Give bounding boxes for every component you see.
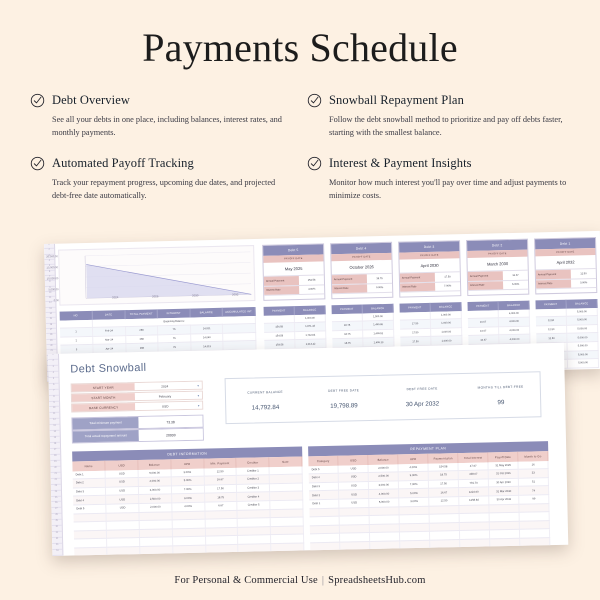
table-cell[interactable] (340, 541, 370, 550)
footer-left-text: For Personal & Commercial Use (174, 575, 317, 586)
balance-over-time-chart: 20,000.00 15,000.00 10,000.00 5,000.00 0… (58, 245, 255, 306)
chart-y-tick: 5,000.00 (48, 288, 60, 291)
feature-description: See all your debts in one place, includi… (52, 113, 290, 140)
kpi-summary-strip: CURRENT BALANCE 14,792.84 DEBT FREE DATE… (225, 371, 542, 424)
table-cell[interactable] (74, 547, 107, 556)
debt-card-row-label: Interest Rate (536, 279, 571, 288)
feature-heading: Interest & Payment Insights (307, 156, 574, 171)
feature-title: Debt Overview (52, 93, 130, 108)
kpi-value: 14,792.84 (252, 403, 280, 411)
page-title: Payments Schedule (0, 0, 600, 71)
debt-card-date: April 2030 (399, 259, 459, 274)
chevron-down-icon[interactable]: ▾ (195, 402, 202, 409)
table-cell[interactable] (310, 542, 340, 551)
kpi-label: DEBT FREE DATE (328, 388, 359, 393)
debt-card[interactable]: Debt 1 PAYOFF DATE April 2032 Annual Pay… (534, 237, 597, 294)
table-cell[interactable] (310, 551, 340, 556)
debt-card-row-value: 154.58 (299, 276, 324, 285)
table-cell[interactable] (370, 541, 400, 550)
field-label: START YEAR (72, 383, 135, 391)
table-cell[interactable] (370, 549, 400, 556)
chart-x-tick: 2024 (112, 293, 118, 299)
row-number-gutter: 1234567891011121314151617181920212223242… (48, 354, 63, 556)
table-cell[interactable] (400, 540, 430, 549)
table-cell[interactable] (173, 545, 206, 554)
feature-description: Follow the debt snowball method to prior… (329, 113, 567, 140)
chart-y-tick: 10,000.00 (47, 277, 60, 280)
debt-card-row: Interest Rate 9.00% (332, 283, 392, 294)
table-cell[interactable] (340, 550, 370, 556)
table-cell[interactable] (140, 546, 173, 555)
debt-card-row-value: 4.00% (299, 285, 324, 294)
debt-card-date: October 2026 (331, 260, 391, 275)
footer-separator: | (318, 575, 328, 586)
debt-card-row-value: 7.00% (435, 282, 460, 291)
field-label: BASE CURRENCY (72, 403, 135, 411)
feature-title: Snowball Repayment Plan (329, 93, 464, 108)
debt-card-row-label: Interest Rate (468, 281, 503, 290)
table-cell[interactable] (520, 546, 550, 555)
circled-check-icon (307, 156, 322, 171)
debt-card-row-label: Annual Payment (536, 270, 571, 279)
feature-title: Interest & Payment Insights (329, 156, 472, 171)
debt-card-row-value: 3.00% (571, 279, 596, 288)
total-label: Total actual repayment amount (73, 430, 139, 442)
kpi-value: 30 Apr 2032 (406, 400, 440, 408)
row-number: 34 (52, 550, 62, 556)
feature-description: Track your repayment progress, upcoming … (52, 176, 290, 203)
kpi-value: 99 (497, 399, 504, 406)
table-cell[interactable] (205, 544, 238, 553)
chart-x-tick: 2026 (152, 292, 158, 298)
total-label: Total minimum payment (72, 417, 138, 429)
table-cell[interactable] (460, 539, 490, 548)
feature-heading: Automated Payoff Tracking (30, 156, 297, 171)
table-cell[interactable] (271, 543, 304, 552)
table-cell[interactable] (238, 552, 271, 556)
feature-interest-payment-insights: Interest & Payment Insights Monitor how … (307, 156, 574, 203)
chart-x-tick: 2030 (192, 291, 198, 297)
table-cell[interactable]: 5,000.00 (568, 359, 599, 368)
feature-heading: Debt Overview (30, 93, 297, 108)
debt-card-row-value: 16.67 (503, 271, 528, 280)
table-cell[interactable] (173, 554, 206, 556)
kpi-current-balance: CURRENT BALANCE 14,792.84 (226, 377, 305, 423)
debt-card-row-value: 9.00% (367, 283, 392, 292)
feature-snowball-repayment-plan: Snowball Repayment Plan Follow the debt … (307, 93, 574, 140)
table-cell[interactable] (107, 546, 140, 555)
debt-card-row-label: Interest Rate (264, 286, 299, 295)
chart-x-tick: 2032 (232, 290, 238, 296)
debt-card-row-value: 12.50 (571, 269, 596, 278)
feature-heading: Snowball Repayment Plan (307, 93, 574, 108)
debt-card-row-value: 5.00% (503, 280, 528, 289)
feature-description: Monitor how much interest you'll pay ove… (329, 176, 567, 203)
footer-site-link[interactable]: SpreadsheetsHub.com (328, 575, 425, 586)
table-cell[interactable] (140, 554, 173, 556)
debt-information-table[interactable]: NameUSDBalanceAPRMin. PaymentCreditorNot… (72, 456, 304, 555)
feature-debt-overview: Debt Overview See all your debts in one … (30, 93, 297, 140)
chart-y-tick: 0.00 (54, 299, 61, 302)
field-value[interactable]: February (135, 392, 195, 400)
table-cell[interactable] (490, 538, 520, 547)
debt-card-row-value: 18.75 (367, 274, 392, 283)
chevron-down-icon[interactable]: ▾ (195, 382, 202, 389)
kpi-months-till-debt-free: MONTHS TILL DEBT-FREE 99 (461, 372, 540, 418)
circled-check-icon (30, 93, 45, 108)
table-cell[interactable] (238, 544, 271, 553)
kpi-label: DEBT FREE DATE (407, 386, 438, 391)
debt-card-date: April 2032 (535, 255, 595, 270)
table-cell[interactable] (107, 555, 140, 556)
debt-card-row-label: Interest Rate (332, 284, 367, 293)
chevron-down-icon[interactable]: ▾ (195, 392, 202, 399)
debt-card-date: March 2030 (467, 257, 527, 272)
table-cell[interactable] (430, 548, 460, 556)
kpi-debt-free-date: DEBT FREE DATE 30 Apr 2032 (383, 374, 462, 420)
footer: For Personal & Commercial Use|Spreadshee… (0, 575, 600, 586)
field-value[interactable]: 2024 (135, 382, 195, 390)
debt-card[interactable]: Debt 5 PAYOFF DATE May 2025 Annual Payme… (262, 243, 325, 300)
debt-card-row-label: Annual Payment (264, 276, 299, 285)
debt-card-row: Interest Rate 3.00% (536, 279, 596, 290)
base-currency-field[interactable]: BASE CURRENCY USD ▾ (71, 401, 203, 413)
debt-card[interactable]: Debt 4 PAYOFF DATE October 2026 Annual P… (330, 242, 393, 299)
debt-card-row-label: Annual Payment (400, 273, 435, 282)
debt-card-row-label: Interest Rate (400, 282, 435, 291)
debt-card-row: Interest Rate 5.00% (468, 280, 528, 291)
field-label: START MONTH (72, 393, 135, 401)
debt-snowball-spreadsheet[interactable]: 1234567891011121314151617181920212223242… (48, 343, 568, 556)
total-actual-repayment-row: Total actual repayment amount 20000 (72, 428, 204, 444)
table-cell[interactable] (206, 553, 239, 556)
kpi-debt-free-amount: DEBT FREE DATE 19,798.89 (304, 376, 383, 422)
table-cell[interactable] (271, 551, 304, 555)
table-cell[interactable] (400, 549, 430, 556)
kpi-label: CURRENT BALANCE (247, 389, 283, 394)
feature-title: Automated Payoff Tracking (52, 156, 194, 171)
field-value[interactable]: USD (135, 402, 195, 410)
table-cell[interactable] (430, 539, 460, 548)
snowball-title: Debt Snowball (70, 362, 146, 376)
debt-card-row-label: Annual Payment (332, 275, 367, 284)
debt-card[interactable]: Debt 3 PAYOFF DATE April 2030 Annual Pay… (398, 240, 461, 297)
repayment-plan-table[interactable]: CategoryUSDBalanceAPRPayment planTotal I… (308, 451, 550, 556)
circled-check-icon (30, 156, 45, 171)
chart-y-tick: 15,000.00 (46, 266, 59, 269)
debt-card-row-value: 17.50 (435, 273, 460, 282)
debt-card-date: May 2025 (264, 262, 324, 277)
feature-grid: Debt Overview See all your debts in one … (0, 71, 600, 203)
kpi-value: 19,798.89 (330, 402, 358, 410)
debt-card-row: Interest Rate 7.00% (400, 282, 460, 293)
chart-y-tick: 20,000.00 (46, 255, 59, 258)
debt-card-row: Interest Rate 4.00% (264, 285, 324, 296)
circled-check-icon (307, 93, 322, 108)
table-cell[interactable] (460, 547, 490, 556)
feature-automated-payoff-tracking: Automated Payoff Tracking Track your rep… (30, 156, 297, 203)
kpi-label: MONTHS TILL DEBT-FREE (478, 384, 524, 389)
total-value: 73.38 (139, 416, 203, 428)
debt-card-row-label: Annual Payment (468, 272, 503, 281)
spreadsheet-preview-stack: 1234567891011121314151617181920212223242… (0, 232, 600, 562)
table-cell[interactable] (520, 538, 550, 547)
table-cell[interactable] (490, 547, 520, 556)
debt-card[interactable]: Debt 2 PAYOFF DATE March 2030 Annual Pay… (466, 239, 529, 296)
total-value: 20000 (139, 429, 203, 441)
